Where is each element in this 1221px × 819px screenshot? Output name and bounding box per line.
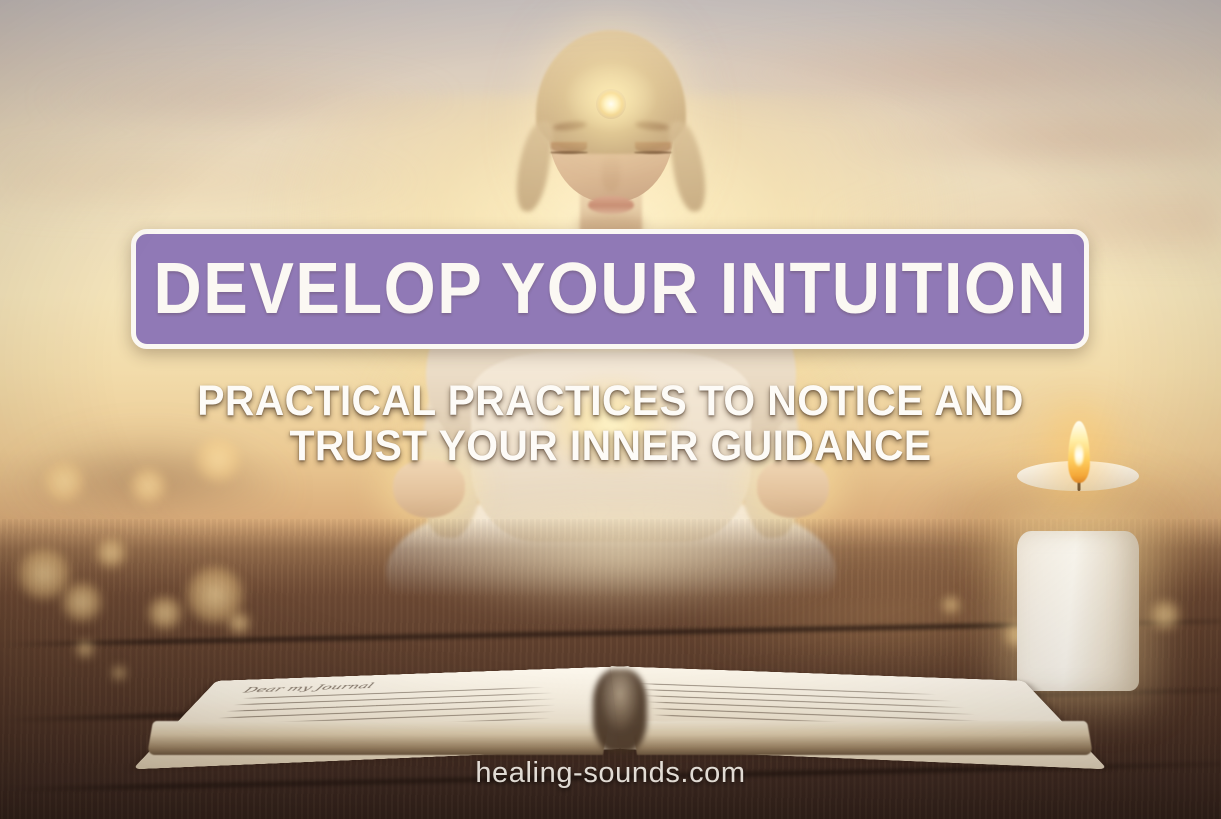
hair-strand-right — [666, 118, 709, 213]
eyelash-right — [634, 151, 672, 154]
bokeh-light — [96, 538, 126, 568]
bokeh-light — [112, 666, 126, 680]
subtitle: PRACTICAL PRACTICES TO NOTICE AND TRUST … — [0, 379, 1221, 468]
subtitle-line-1: PRACTICAL PRACTICES TO NOTICE AND — [31, 379, 1191, 424]
bokeh-light — [76, 640, 94, 658]
title-banner: DEVELOP YOUR INTUITION — [131, 229, 1089, 349]
page-edge-left — [147, 721, 609, 755]
bokeh-light — [18, 548, 70, 600]
journal-spine — [593, 669, 647, 753]
journal-handwriting-left — [216, 666, 629, 681]
bokeh-light — [62, 582, 102, 622]
journal-handwriting-right — [610, 666, 1023, 681]
handwriting-line — [639, 683, 937, 695]
page-edge-right — [631, 721, 1093, 755]
hair-strand-left — [512, 118, 555, 213]
bokeh-light — [130, 468, 166, 504]
third-eye-glow-icon — [596, 89, 626, 119]
handwriting-line — [218, 705, 555, 719]
journal-glow — [300, 481, 940, 661]
page-title: DEVELOP YOUR INTUITION — [153, 253, 1067, 325]
handwriting-line — [644, 695, 965, 708]
lips — [588, 196, 634, 214]
eyelash-left — [550, 151, 588, 154]
handwriting-line — [647, 701, 976, 714]
handwriting-line — [233, 692, 553, 705]
open-journal: Dear my Journal — [140, 507, 1100, 757]
nose — [602, 152, 620, 192]
subtitle-line-2: TRUST YOUR INNER GUIDANCE — [31, 424, 1191, 469]
handwriting-line — [650, 708, 981, 722]
handwriting-line — [226, 698, 556, 711]
promo-graphic: Dear my Journal DEVELOP YOUR INTUITION P… — [0, 0, 1221, 819]
site-url: healing-sounds.com — [0, 757, 1221, 790]
journal-heading: Dear my Journal — [241, 682, 376, 695]
handwriting-line — [641, 689, 952, 701]
